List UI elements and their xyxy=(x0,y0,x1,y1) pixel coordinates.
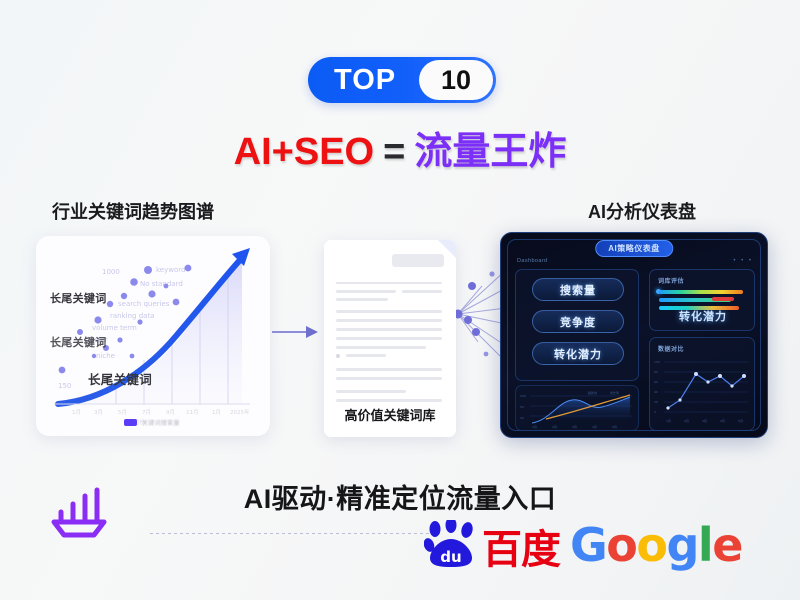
svg-text:11月: 11月 xyxy=(186,409,199,416)
svg-text:40: 40 xyxy=(654,390,658,394)
doc-text-line xyxy=(336,390,406,393)
svg-text:150: 150 xyxy=(58,382,71,390)
line-chart-title: 数据对比 xyxy=(658,344,684,353)
svg-text:100: 100 xyxy=(654,360,660,364)
svg-text:20: 20 xyxy=(654,400,658,404)
svg-text:20: 20 xyxy=(520,416,524,420)
svg-text:volume term: volume term xyxy=(92,324,137,332)
title-equals-sign: = xyxy=(383,131,405,173)
google-letter-e: e xyxy=(712,518,742,572)
doc-text-line xyxy=(336,328,442,331)
top-badge-label: TOP xyxy=(334,66,396,95)
comparison-chart-panel: 数据对比 1008060 40200 1月2月3月 xyxy=(649,337,755,431)
svg-text:9月: 9月 xyxy=(166,409,175,416)
doc-text-line xyxy=(336,290,396,293)
keyword-library-document: 高价值关键词库 xyxy=(324,240,456,437)
svg-text:niche: niche xyxy=(96,352,115,360)
doc-header-block xyxy=(392,254,444,267)
doc-text-line xyxy=(336,368,442,371)
caption-left: 行业关键词趋势图谱 xyxy=(52,198,214,224)
top-rank-badge: TOP 10 xyxy=(308,57,496,103)
svg-text:2025年: 2025年 xyxy=(230,408,250,416)
title-part-ai-seo: AI+SEO xyxy=(234,131,374,173)
svg-text:5月: 5月 xyxy=(738,419,743,423)
svg-text:1月: 1月 xyxy=(212,409,221,416)
doc-text-line xyxy=(336,337,442,340)
dashboard-title-pill: AI策略仪表盘 xyxy=(595,240,673,257)
dashboard-menu-icon[interactable]: • • • xyxy=(733,258,753,264)
svg-text:5月: 5月 xyxy=(118,409,127,416)
svg-text:3月: 3月 xyxy=(94,409,103,416)
svg-text:1000: 1000 xyxy=(102,268,120,276)
chart-label-longtail-1: 长尾关键词 xyxy=(50,290,107,306)
svg-text:7月: 7月 xyxy=(142,409,151,416)
svg-text:No standard: No standard xyxy=(140,280,183,288)
svg-text:趋势线: 趋势线 xyxy=(588,390,597,395)
top-badge-number-chip: 10 xyxy=(419,60,493,100)
ai-dashboard-panel: AI策略仪表盘 Dashboard • • • 搜索量 竞争度 转化潜力 xyxy=(500,232,768,438)
svg-text:3月: 3月 xyxy=(702,419,707,423)
chart-legend: 关键词搜索量 xyxy=(124,418,180,427)
svg-text:50: 50 xyxy=(520,405,524,409)
doc-bullet-icon xyxy=(336,354,340,358)
google-letter-g2: g xyxy=(666,518,697,572)
doc-text-line xyxy=(402,290,442,293)
svg-text:100: 100 xyxy=(520,394,526,398)
metrics-panel: 搜索量 竞争度 转化潜力 xyxy=(515,269,639,381)
gauge-bar xyxy=(659,290,743,294)
doc-text-line xyxy=(336,282,442,284)
svg-text:2月: 2月 xyxy=(684,419,689,423)
doc-text-line xyxy=(336,377,442,380)
top-badge-number: 10 xyxy=(441,67,471,94)
google-letter-g1: G xyxy=(570,518,606,572)
baidu-logo: du 百度 xyxy=(424,520,560,570)
doc-text-line xyxy=(346,354,386,357)
svg-text:增长率: 增长率 xyxy=(610,390,619,395)
chart-label-longtail-3: 长尾关键词 xyxy=(88,369,152,388)
svg-text:5月: 5月 xyxy=(612,425,617,429)
svg-text:1月: 1月 xyxy=(72,409,81,416)
doc-label: 高价值关键词库 xyxy=(324,405,456,424)
page-title: AI+SEO=流量王炸 xyxy=(0,128,800,176)
doc-text-line xyxy=(336,319,442,322)
svg-text:2月: 2月 xyxy=(552,425,557,429)
google-letter-l: l xyxy=(698,518,712,572)
svg-text:4月: 4月 xyxy=(592,425,597,429)
area-chart-graphic: 1005020 1月2月3月 4月5月 趋势线增长率 xyxy=(516,386,638,430)
baidu-du-text: du xyxy=(440,548,461,566)
google-letter-o2: o xyxy=(636,518,666,572)
legend-label: 关键词搜索量 xyxy=(142,418,180,427)
svg-text:60: 60 xyxy=(654,380,658,384)
chart-label-longtail-2: 长尾关键词 xyxy=(50,334,107,350)
partner-logos: du 百度 Google xyxy=(424,520,742,570)
bottom-tagline: AI驱动·精准定位流量入口 xyxy=(0,477,800,516)
svg-text:ranking data: ranking data xyxy=(110,312,154,320)
baidu-chinese-text: 百度 xyxy=(482,530,560,570)
keyword-trend-card: 1000 keyword No standard search queries … xyxy=(36,236,270,436)
gauge-overlay-label: 转化潜力 xyxy=(650,308,756,324)
baidu-paw-icon: du xyxy=(424,520,480,570)
metric-button-search-volume[interactable]: 搜索量 xyxy=(532,278,624,301)
gauge-chip xyxy=(712,297,734,301)
svg-text:80: 80 xyxy=(654,370,658,374)
svg-text:1月: 1月 xyxy=(666,419,671,423)
divider-dashed-line xyxy=(150,533,440,534)
svg-text:3月: 3月 xyxy=(572,425,577,429)
dashboard-tag: Dashboard xyxy=(517,258,548,264)
svg-text:1月: 1月 xyxy=(532,425,537,429)
flow-arrow-icon xyxy=(272,325,320,344)
svg-text:0: 0 xyxy=(654,410,656,414)
svg-text:keyword: keyword xyxy=(156,266,185,274)
legend-swatch-icon xyxy=(124,419,137,426)
google-logo: Google xyxy=(570,522,742,568)
svg-text:4月: 4月 xyxy=(720,419,725,423)
potential-gauge-panel: 词库评估 转化潜力 xyxy=(649,269,755,331)
doc-text-line xyxy=(336,399,442,402)
metric-button-competition[interactable]: 竞争度 xyxy=(532,310,624,333)
metric-button-conversion[interactable]: 转化潜力 xyxy=(532,342,624,365)
svg-text:search queries: search queries xyxy=(118,300,170,308)
google-letter-o1: o xyxy=(606,518,636,572)
gauge-panel-title: 词库评估 xyxy=(658,276,684,285)
doc-text-line xyxy=(336,346,426,349)
dashboard-area-chart-panel: 1005020 1月2月3月 4月5月 趋势线增长率 xyxy=(515,385,639,431)
doc-text-line xyxy=(336,310,442,313)
doc-text-line xyxy=(336,298,388,301)
caption-right: AI分析仪表盘 xyxy=(588,198,696,224)
poster-stage: TOP 10 AI+SEO=流量王炸 行业关键词趋势图谱 AI分析仪表盘 xyxy=(0,0,800,600)
title-part-traffic: 流量王炸 xyxy=(414,131,566,173)
